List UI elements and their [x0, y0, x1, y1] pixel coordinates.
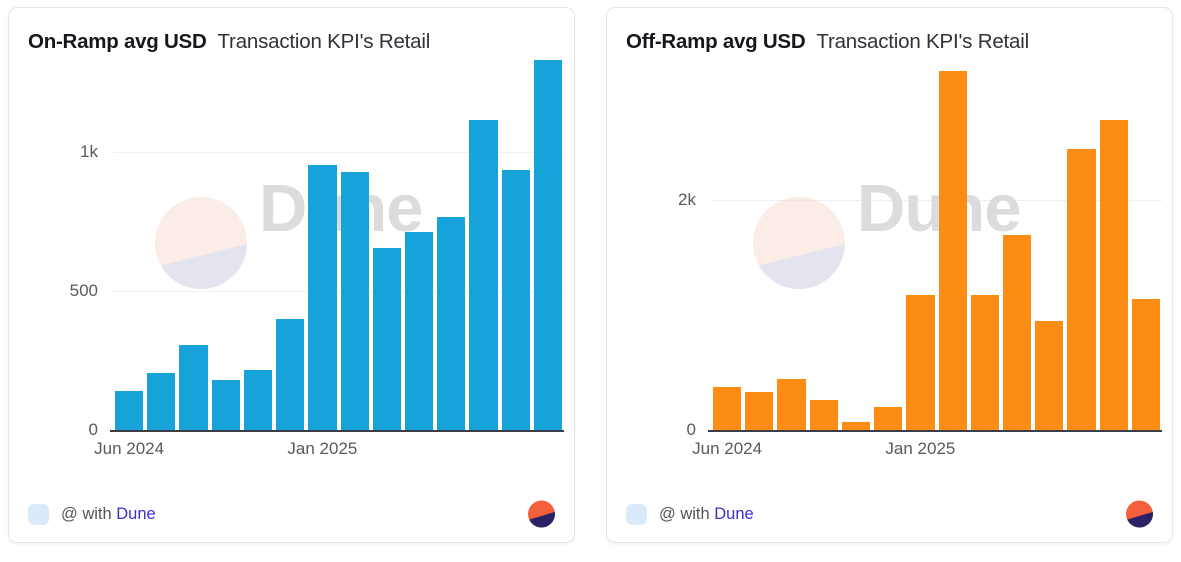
footer-attribution: @ with Dune	[659, 505, 754, 524]
bar[interactable]	[308, 165, 336, 430]
bar[interactable]	[939, 71, 967, 430]
bar-slot[interactable]	[371, 68, 403, 430]
bar[interactable]	[437, 217, 465, 430]
bar[interactable]	[745, 392, 773, 430]
chart-card-on-ramp: On-Ramp avg USD Transaction KPI's Retail…	[8, 7, 575, 543]
bar[interactable]	[971, 295, 999, 430]
y-tick-label: 2k	[678, 190, 707, 210]
bar[interactable]	[906, 295, 934, 430]
bar[interactable]	[1100, 120, 1128, 430]
dashboard-board: On-Ramp avg USD Transaction KPI's Retail…	[0, 0, 1181, 562]
x-tick-label: Jun 2024	[94, 439, 164, 459]
footer-text-prefix: @ with	[659, 505, 714, 523]
bar-slot[interactable]	[532, 68, 564, 430]
bar-series	[711, 68, 1162, 430]
bar[interactable]	[1132, 299, 1160, 430]
bar-slot[interactable]	[467, 68, 499, 430]
bar-slot[interactable]	[808, 68, 840, 430]
card-footer: @ with Dune	[9, 486, 574, 542]
card-footer: @ with Dune	[607, 486, 1172, 542]
chart-card-off-ramp: Off-Ramp avg USD Transaction KPI's Retai…	[606, 7, 1173, 543]
bar-slot[interactable]	[840, 68, 872, 430]
card-header: On-Ramp avg USD Transaction KPI's Retail	[9, 8, 574, 54]
gridline	[110, 430, 564, 432]
bar-slot[interactable]	[145, 68, 177, 430]
bar[interactable]	[147, 373, 175, 430]
bar[interactable]	[341, 172, 369, 430]
bar-slot[interactable]	[113, 68, 145, 430]
dune-link[interactable]: Dune	[116, 505, 155, 523]
x-axis-labels: Jun 2024Jan 2025	[113, 439, 564, 463]
x-tick-label: Jun 2024	[692, 439, 762, 459]
bar-slot[interactable]	[339, 68, 371, 430]
bar[interactable]	[1067, 149, 1095, 430]
bar[interactable]	[1035, 321, 1063, 430]
bar[interactable]	[115, 391, 143, 430]
bar-slot[interactable]	[210, 68, 242, 430]
gridline	[708, 430, 1162, 432]
bar-slot[interactable]	[743, 68, 775, 430]
bar[interactable]	[810, 400, 838, 430]
bar[interactable]	[212, 380, 240, 430]
bar-slot[interactable]	[1001, 68, 1033, 430]
page-title: On-Ramp avg USD	[28, 30, 207, 54]
y-tick-label: 0	[687, 420, 707, 440]
bar-slot[interactable]	[1098, 68, 1130, 430]
chart-plot-area-off-ramp[interactable]: 02kDuneJun 2024Jan 2025	[607, 54, 1172, 486]
x-tick-label: Jan 2025	[287, 439, 357, 459]
bar[interactable]	[534, 60, 562, 430]
bar-slot[interactable]	[904, 68, 936, 430]
footer-attribution: @ with Dune	[61, 505, 156, 524]
y-tick-label: 500	[70, 281, 109, 301]
bar[interactable]	[373, 248, 401, 430]
bar[interactable]	[502, 170, 530, 430]
dune-link[interactable]: Dune	[714, 505, 753, 523]
bar[interactable]	[842, 422, 870, 430]
bar-slot[interactable]	[937, 68, 969, 430]
y-tick-label: 0	[89, 420, 109, 440]
bar[interactable]	[874, 407, 902, 430]
bar-slot[interactable]	[177, 68, 209, 430]
bar-slot[interactable]	[274, 68, 306, 430]
bar-slot[interactable]	[1130, 68, 1162, 430]
bar[interactable]	[777, 379, 805, 430]
footer-text-prefix: @ with	[61, 505, 116, 523]
x-axis-labels: Jun 2024Jan 2025	[711, 439, 1162, 463]
bar-slot[interactable]	[1065, 68, 1097, 430]
bar-slot[interactable]	[1033, 68, 1065, 430]
bar-series	[113, 68, 564, 430]
bar[interactable]	[179, 345, 207, 430]
chart-plot-area-on-ramp[interactable]: 05001kDuneJun 2024Jan 2025	[9, 54, 574, 486]
bar-slot[interactable]	[306, 68, 338, 430]
bar-slot[interactable]	[872, 68, 904, 430]
user-avatar	[626, 504, 647, 525]
bar-slot[interactable]	[242, 68, 274, 430]
bar-slot[interactable]	[969, 68, 1001, 430]
bar[interactable]	[1003, 235, 1031, 430]
card-subtitle: Transaction KPI's Retail	[218, 30, 431, 54]
bar[interactable]	[244, 370, 272, 430]
bar[interactable]	[469, 120, 497, 430]
card-header: Off-Ramp avg USD Transaction KPI's Retai…	[607, 8, 1172, 54]
bar-slot[interactable]	[775, 68, 807, 430]
dune-logo-icon	[1126, 501, 1153, 528]
card-subtitle: Transaction KPI's Retail	[816, 30, 1029, 54]
x-tick-label: Jan 2025	[885, 439, 955, 459]
bar-slot[interactable]	[403, 68, 435, 430]
bar-slot[interactable]	[435, 68, 467, 430]
bar-slot[interactable]	[500, 68, 532, 430]
page-title: Off-Ramp avg USD	[626, 30, 805, 54]
user-avatar	[28, 504, 49, 525]
bar[interactable]	[276, 319, 304, 430]
y-tick-label: 1k	[80, 142, 109, 162]
bar-slot[interactable]	[711, 68, 743, 430]
bar[interactable]	[405, 232, 433, 430]
bar[interactable]	[713, 387, 741, 430]
dune-logo-icon	[528, 501, 555, 528]
